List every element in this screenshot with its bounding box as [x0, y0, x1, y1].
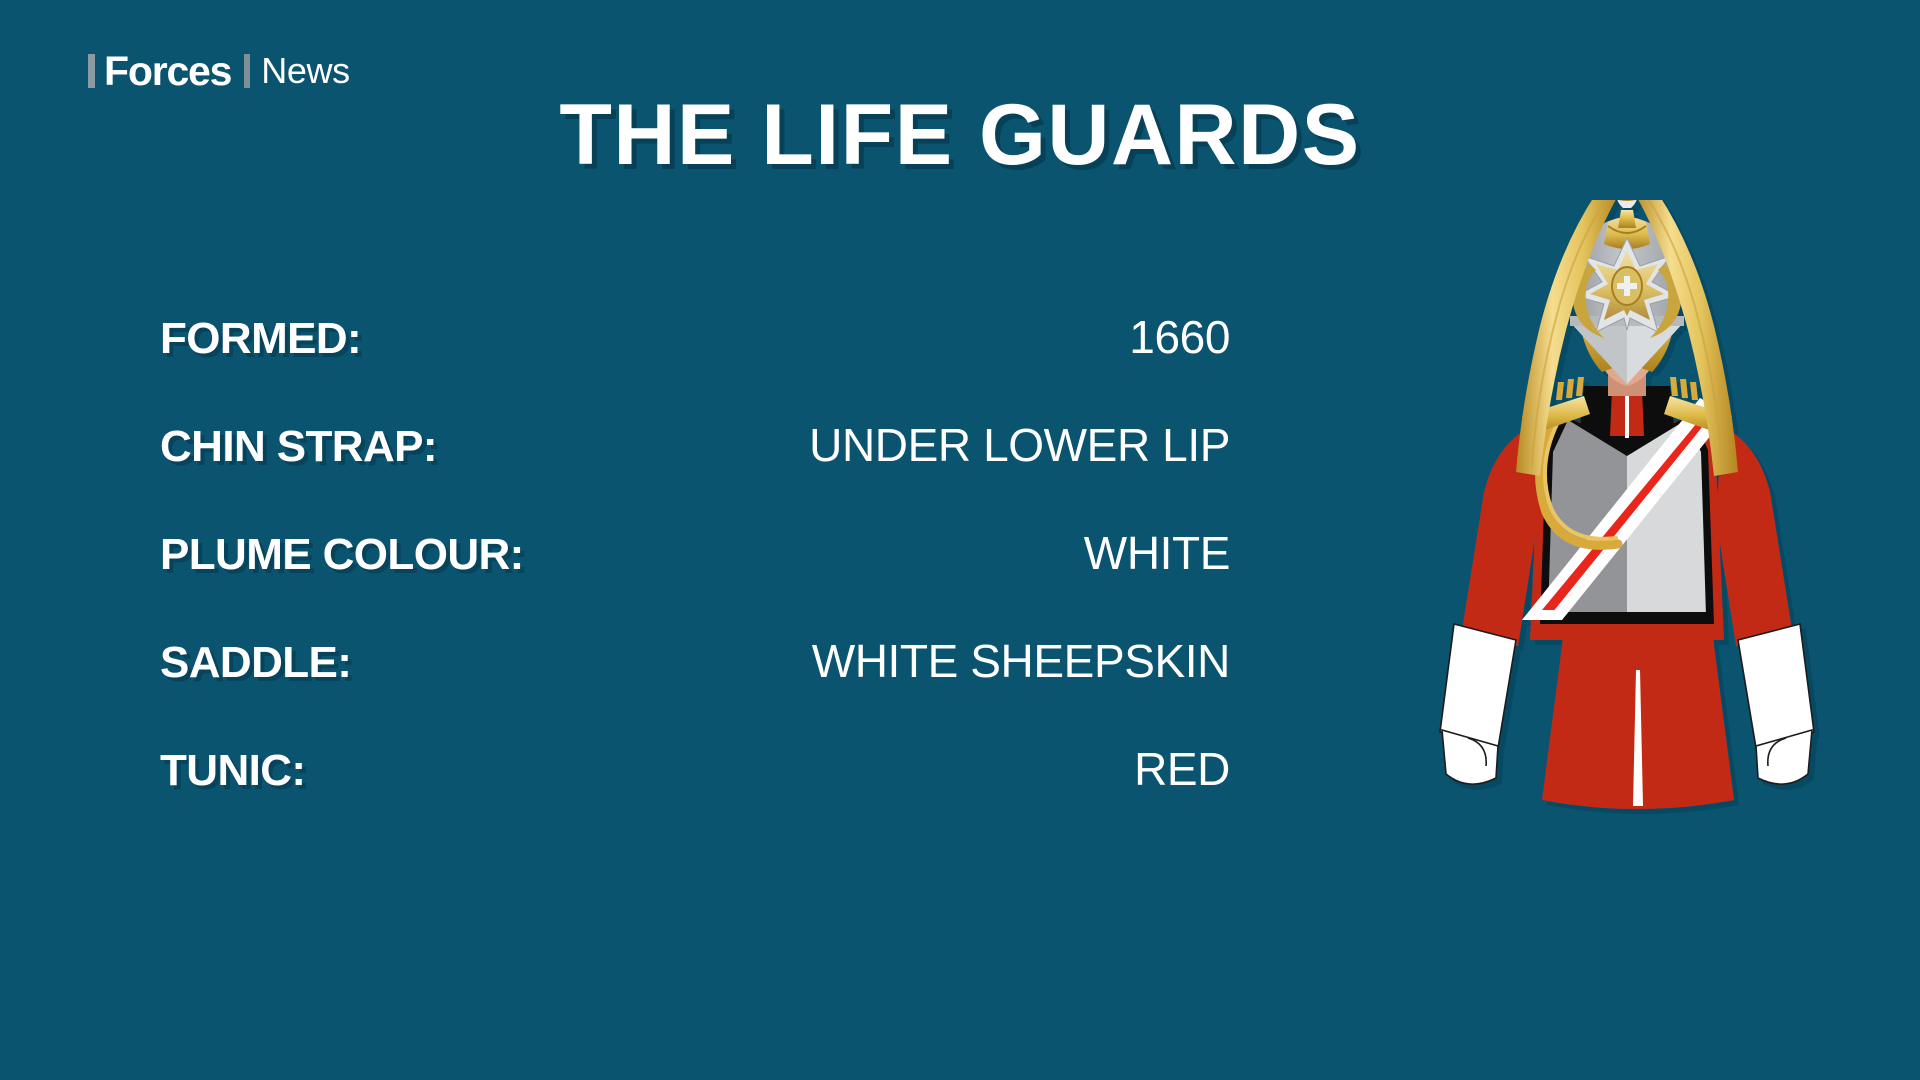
spec-value: UNDER LOWER LIP — [720, 418, 1230, 472]
spec-label: SADDLE: — [160, 638, 720, 688]
logo-news-text: News — [261, 53, 349, 89]
plume-holder — [1618, 210, 1636, 228]
epaulette-left-fringe — [1556, 377, 1584, 400]
spec-value: WHITE — [720, 526, 1230, 580]
guard-figure-group — [1440, 200, 1814, 809]
spec-table: FORMED: 1660 CHIN STRAP: UNDER LOWER LIP… — [160, 310, 1230, 850]
gauntlet-left — [1440, 624, 1516, 748]
spec-value: RED — [720, 742, 1230, 796]
spec-row-plume-colour: PLUME COLOUR: WHITE — [160, 526, 1230, 634]
page-title: THE LIFE GUARDS — [0, 86, 1920, 185]
spec-value: WHITE SHEEPSKIN — [720, 634, 1230, 688]
plume-white-tuft — [1617, 200, 1638, 208]
spec-label: TUNIC: — [160, 746, 720, 796]
spec-row-formed: FORMED: 1660 — [160, 310, 1230, 418]
spec-row-chin-strap: CHIN STRAP: UNDER LOWER LIP — [160, 418, 1230, 526]
infographic-slide: Forces News THE LIFE GUARDS FORMED: 1660… — [0, 0, 1920, 1080]
spec-row-tunic: TUNIC: RED — [160, 742, 1230, 850]
gauntlet-right — [1738, 624, 1814, 748]
spec-row-saddle: SADDLE: WHITE SHEEPSKIN — [160, 634, 1230, 742]
spec-label: PLUME COLOUR: — [160, 530, 720, 580]
spec-label: FORMED: — [160, 314, 720, 364]
tunic-collar-piping — [1625, 390, 1629, 438]
cuirass-bottom-edge — [1546, 612, 1708, 624]
life-guards-cavalryman-illustration — [1412, 200, 1842, 990]
logo-divider-bar — [244, 54, 250, 88]
epaulette-right-fringe — [1670, 377, 1698, 400]
spec-value: 1660 — [720, 310, 1230, 364]
logo-accent-bar — [88, 54, 95, 88]
spec-label: CHIN STRAP: — [160, 422, 720, 472]
